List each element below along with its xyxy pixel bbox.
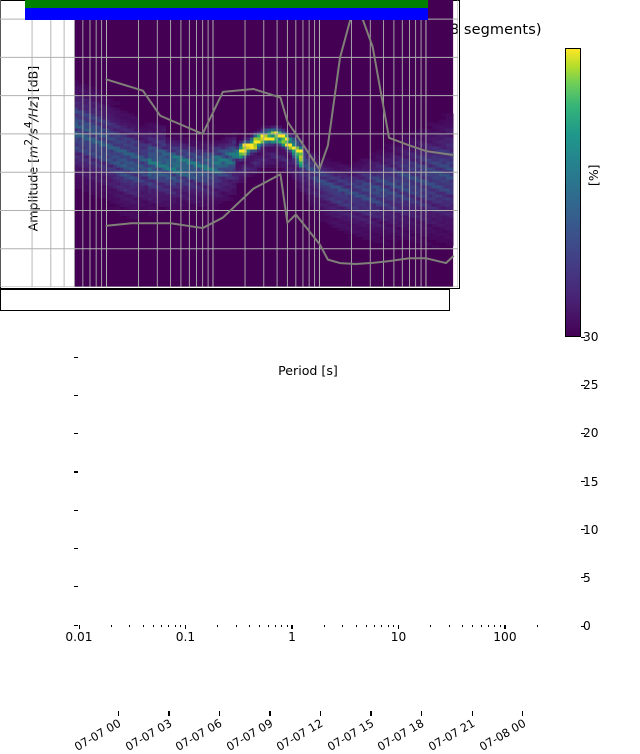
timeline-tick-label: 07-07 03 — [123, 716, 174, 754]
timeline-tick-mark — [370, 711, 371, 716]
x-minor-tick-mark — [180, 625, 181, 627]
colorbar-tick-label: 10 — [583, 523, 599, 537]
timeline-tick-label: 07-07 18 — [375, 716, 426, 754]
x-tick-label: 10 — [391, 630, 407, 644]
colorbar-tick-mark — [581, 481, 585, 482]
colorbar-tick-label: 25 — [583, 378, 599, 392]
colorbar-tick-mark — [581, 577, 585, 578]
timeline-tick-mark — [421, 711, 422, 716]
colorbar-tick-mark — [581, 433, 585, 434]
x-minor-tick-mark — [388, 625, 389, 627]
timeline-tick-mark — [522, 711, 523, 716]
x-minor-tick-mark — [236, 625, 237, 627]
x-minor-tick-mark — [275, 625, 276, 627]
timeline-tick-mark — [320, 711, 321, 716]
x-tick-label: 0.1 — [176, 630, 195, 644]
x-minor-tick-mark — [488, 625, 489, 627]
x-tick-mark — [185, 625, 186, 629]
x-minor-tick-mark — [366, 625, 367, 627]
x-minor-tick-mark — [481, 625, 482, 627]
x-minor-tick-mark — [143, 625, 144, 627]
x-minor-tick-mark — [161, 625, 162, 627]
x-minor-tick-mark — [111, 625, 112, 627]
x-minor-tick-mark — [472, 625, 473, 627]
x-minor-tick-mark — [217, 625, 218, 627]
x-minor-tick-mark — [268, 625, 269, 627]
colorbar-label: [%] — [586, 126, 601, 186]
timeline-tick-label: 07-07 21 — [426, 716, 477, 754]
x-minor-tick-mark — [249, 625, 250, 627]
x-tick-label: 1 — [288, 630, 296, 644]
y-tick-mark — [74, 471, 78, 472]
x-minor-tick-mark — [281, 625, 282, 627]
colorbar-tick-mark — [581, 626, 585, 627]
x-minor-tick-mark — [449, 625, 450, 627]
x-tick-label: 0.01 — [65, 630, 92, 644]
ppsd-figure: BW.MGS04..BHE 2025-07-07 -- 2025-07-07 (… — [0, 0, 640, 480]
timeline-tick-mark — [168, 711, 169, 716]
timeline-tick-mark — [472, 711, 473, 716]
x-minor-tick-mark — [153, 625, 154, 627]
colorbar-tick-label: 20 — [583, 426, 599, 440]
x-tick-mark — [291, 625, 292, 629]
x-minor-tick-mark — [462, 625, 463, 627]
timeline-tick-label: 07-07 00 — [72, 716, 123, 754]
colorbar[interactable] — [565, 48, 581, 337]
y-tick-mark — [74, 395, 78, 396]
x-minor-tick-mark — [259, 625, 260, 627]
x-minor-tick-mark — [175, 625, 176, 627]
timeline-tick-label: 07-08 00 — [476, 716, 527, 754]
x-minor-tick-mark — [374, 625, 375, 627]
ppsd-plot-area[interactable] — [0, 0, 460, 289]
x-tick-mark — [398, 625, 399, 629]
x-minor-tick-mark — [494, 625, 495, 627]
timeline-tick-label: 07-07 09 — [224, 716, 275, 754]
timeline-coverage-bar[interactable] — [0, 289, 450, 311]
x-minor-tick-mark — [537, 625, 538, 627]
x-minor-tick-mark — [129, 625, 130, 627]
x-minor-tick-mark — [393, 625, 394, 627]
x-minor-tick-mark — [381, 625, 382, 627]
colorbar-tick-mark — [581, 529, 585, 530]
y-tick-mark — [74, 586, 78, 587]
colorbar-tick-mark — [581, 385, 585, 386]
x-minor-tick-mark — [500, 625, 501, 627]
x-minor-tick-mark — [356, 625, 357, 627]
y-tick-mark — [74, 625, 78, 626]
x-tick-mark — [504, 625, 505, 629]
x-tick-label: 100 — [493, 630, 516, 644]
y-tick-mark — [74, 510, 78, 511]
timeline-tick-label: 07-07 06 — [173, 716, 224, 754]
timeline-tick-mark — [269, 711, 270, 716]
y-tick-mark — [74, 433, 78, 434]
timeline-tick-mark — [118, 711, 119, 716]
y-tick-mark — [74, 548, 78, 549]
x-minor-tick-mark — [342, 625, 343, 627]
x-minor-tick-mark — [168, 625, 169, 627]
colorbar-tick-label: 30 — [583, 330, 599, 344]
timeline-tick-label: 07-07 15 — [325, 716, 376, 754]
ppsd-canvas — [0, 0, 458, 287]
timeline-tick-mark — [219, 711, 220, 716]
x-minor-tick-mark — [287, 625, 288, 627]
timeline-tick-label: 07-07 12 — [274, 716, 325, 754]
x-minor-tick-mark — [430, 625, 431, 627]
x-tick-mark — [79, 625, 80, 629]
x-axis-label: Period [s] — [78, 363, 538, 378]
colorbar-tick-label: 15 — [583, 475, 599, 489]
x-minor-tick-mark — [324, 625, 325, 627]
colorbar-tick-mark — [581, 337, 585, 338]
y-tick-mark — [74, 357, 78, 358]
